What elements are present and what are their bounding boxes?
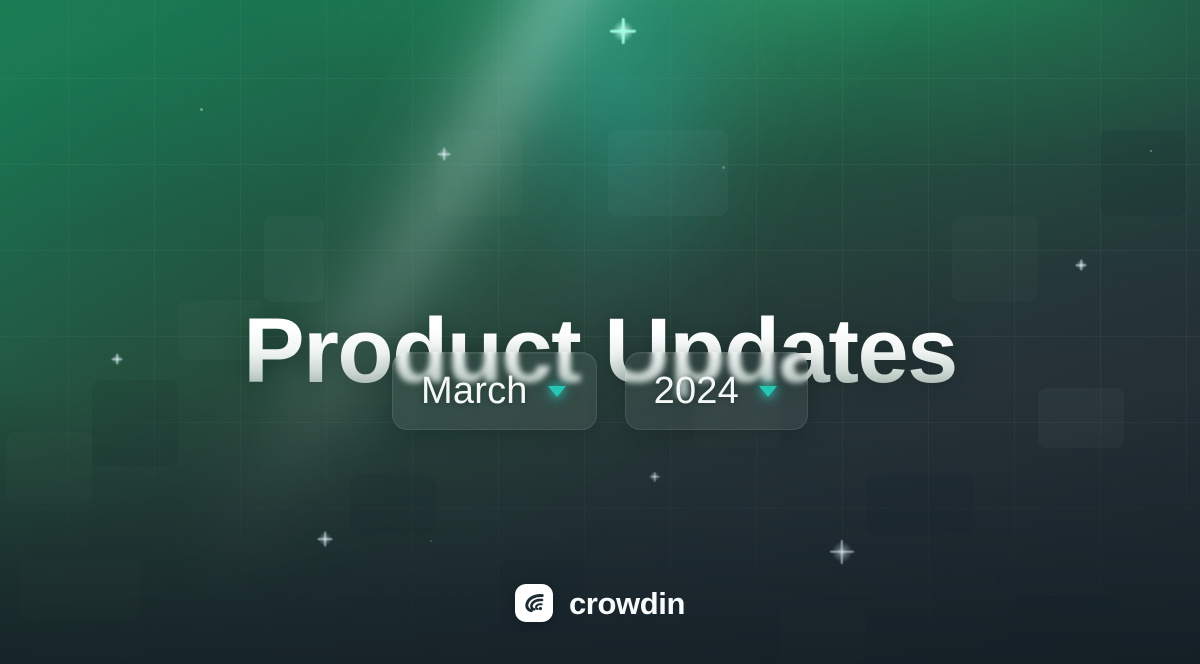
hero-content: Product Updates March 2024 xyxy=(0,0,1200,664)
chevron-down-icon[interactable] xyxy=(753,376,783,406)
year-selector-label: 2024 xyxy=(654,370,739,413)
crowdin-wordmark: crowdin xyxy=(569,588,685,619)
year-selector[interactable]: 2024 xyxy=(625,352,808,430)
crowdin-logo[interactable]: crowdin xyxy=(0,584,1200,622)
crowdin-logo-icon xyxy=(515,584,553,622)
period-selector-row: March 2024 xyxy=(0,352,1200,430)
product-updates-hero-banner: Product Updates March 2024 xyxy=(0,0,1200,664)
month-selector[interactable]: March xyxy=(392,352,597,430)
month-selector-label: March xyxy=(421,370,528,413)
chevron-down-icon[interactable] xyxy=(542,376,572,406)
